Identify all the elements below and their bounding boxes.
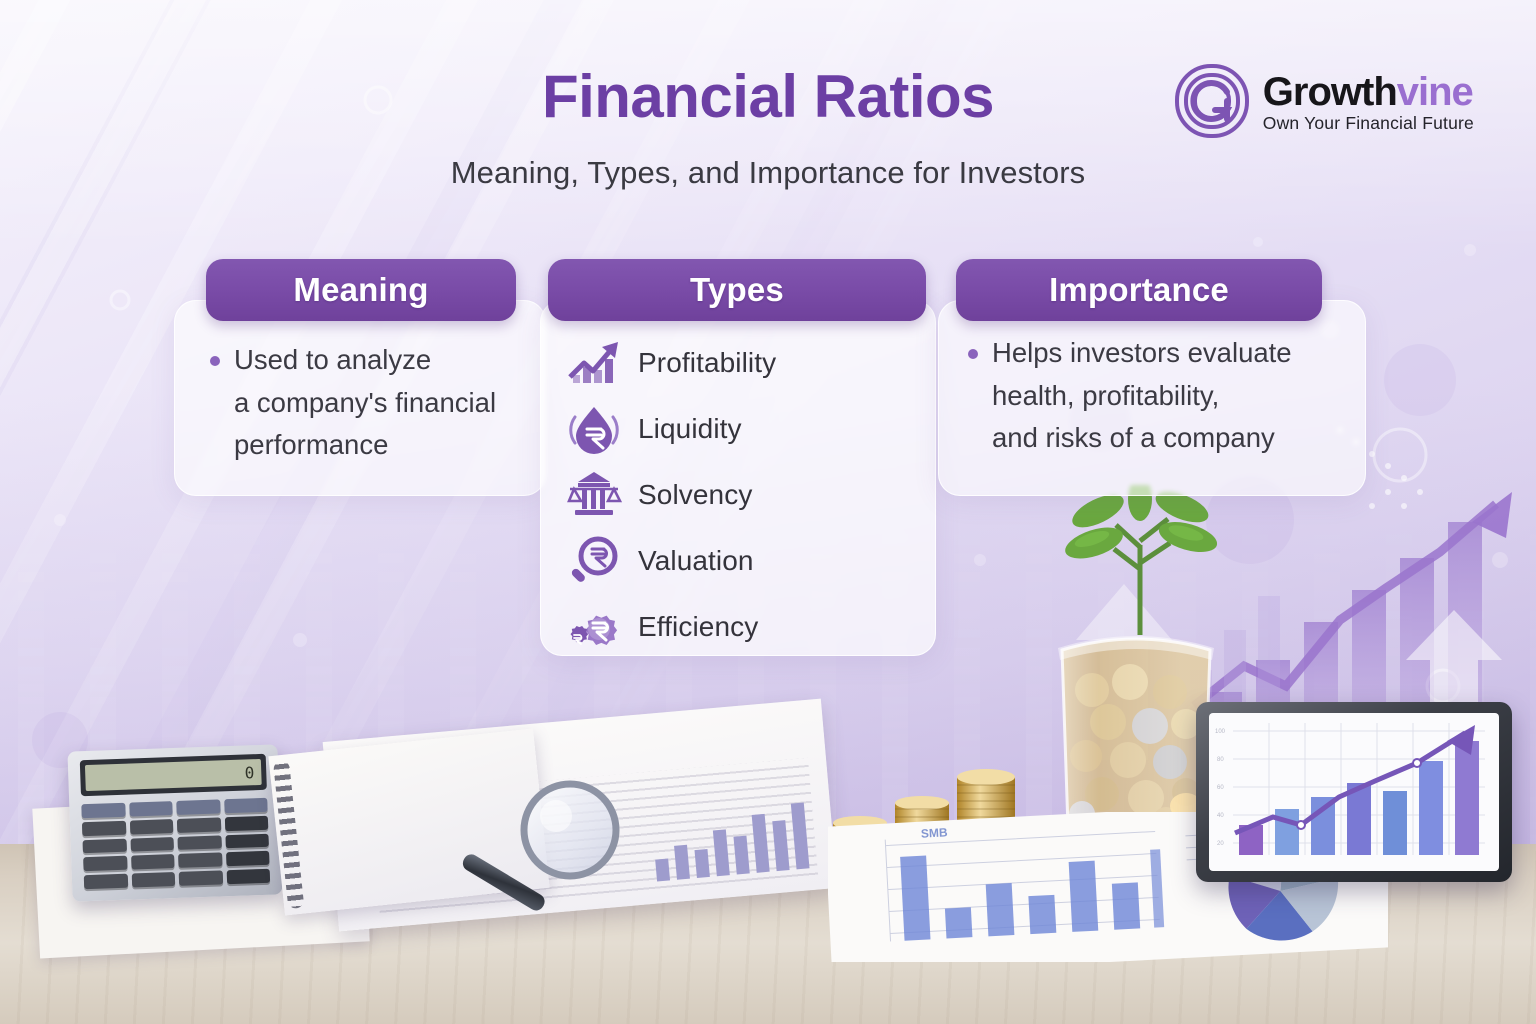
type-label-solvency: Solvency <box>638 479 752 511</box>
card-importance-bullet-text: Helps investors evaluate health, profita… <box>992 332 1292 460</box>
bank-scales-icon <box>566 469 622 521</box>
calculator: 0 <box>67 744 282 901</box>
card-meaning-heading: Meaning <box>206 259 516 321</box>
logo-word-accent: vine <box>1397 70 1473 114</box>
card-meaning-bullet: Used to analyze a company's financial pe… <box>210 339 540 467</box>
types-list: Profitability Liquidity <box>566 330 926 660</box>
bullet-dot-icon <box>210 356 220 366</box>
brand-logo[interactable]: Growthvine Own Your Financial Future <box>1173 62 1474 140</box>
type-label-profitability: Profitability <box>638 347 776 379</box>
magnifier-rupee-icon <box>566 535 622 587</box>
tablet-growth-chart: 10080 604020 <box>1209 713 1499 871</box>
card-importance-heading: Importance <box>956 259 1322 321</box>
page-subtitle: Meaning, Types, and Importance for Inves… <box>0 155 1536 191</box>
type-item-profitability[interactable]: Profitability <box>566 330 926 396</box>
card-meaning-bullet-text: Used to analyze a company's financial pe… <box>234 339 496 467</box>
type-label-efficiency: Efficiency <box>638 611 758 643</box>
type-item-liquidity[interactable]: Liquidity <box>566 396 926 462</box>
growth-chart-arrow-icon <box>566 337 622 389</box>
logo-tagline: Own Your Financial Future <box>1263 115 1474 133</box>
tablet-device: 10080 604020 <box>1196 702 1512 882</box>
plant-sprout <box>1054 485 1224 635</box>
svg-text:80: 80 <box>1217 757 1224 763</box>
type-item-solvency[interactable]: Solvency <box>566 462 926 528</box>
svg-text:20: 20 <box>1217 841 1224 847</box>
tablet-screen: 10080 604020 <box>1209 713 1499 871</box>
logo-wordmark: Growthvine <box>1263 72 1474 112</box>
type-label-valuation: Valuation <box>638 545 754 577</box>
svg-text:100: 100 <box>1215 729 1226 735</box>
balance-sheet-mini-bars <box>651 798 810 881</box>
growthvine-spiral-g-icon <box>1173 62 1251 140</box>
gears-rupee-icon <box>566 601 622 653</box>
logo-text-block: Growthvine Own Your Financial Future <box>1263 70 1474 133</box>
card-types-heading: Types <box>548 259 926 321</box>
calculator-keypad <box>81 798 270 889</box>
card-importance-bullet: Helps investors evaluate health, profita… <box>968 332 1368 460</box>
water-drop-rupee-icon <box>566 403 622 455</box>
calculator-display: 0 <box>85 759 262 791</box>
calculator-screen: 0 <box>80 754 267 796</box>
infographic-canvas: 0 Balance Sheet <box>0 0 1536 1024</box>
bullet-dot-icon <box>968 349 978 359</box>
type-item-efficiency[interactable]: Efficiency <box>566 594 926 660</box>
type-label-liquidity: Liquidity <box>638 413 742 445</box>
logo-word-primary: Growth <box>1263 70 1397 114</box>
svg-text:SMB: SMB <box>921 825 949 840</box>
type-item-valuation[interactable]: Valuation <box>566 528 926 594</box>
tablet-frame: 10080 604020 <box>1196 702 1512 882</box>
svg-text:40: 40 <box>1217 813 1224 819</box>
magnifying-glass <box>452 778 632 938</box>
svg-text:60: 60 <box>1217 785 1224 791</box>
